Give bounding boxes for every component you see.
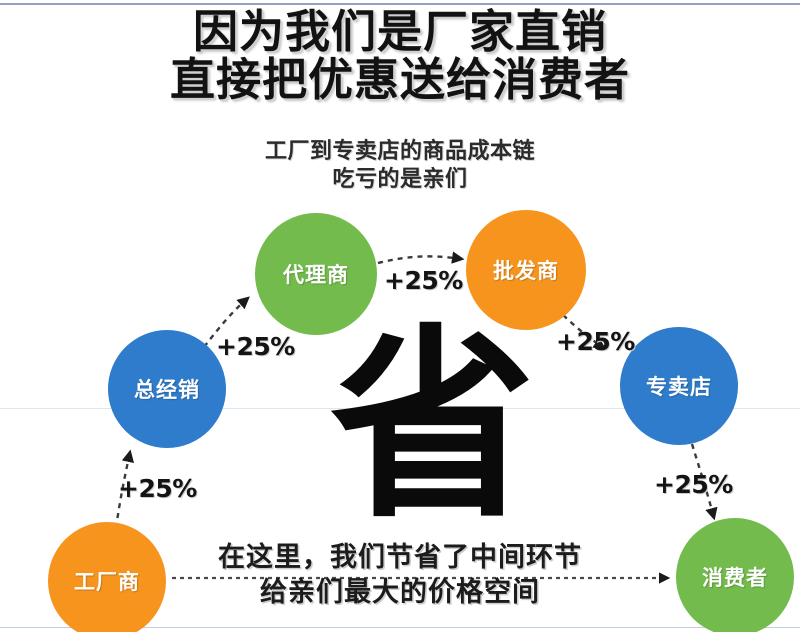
arrow-agent-to-wholesaler (378, 256, 462, 263)
node-wholesaler[interactable]: 批发商 (466, 210, 586, 330)
node-agent[interactable]: 代理商 (255, 213, 377, 335)
markup-distributor-agent: +25% (216, 332, 295, 361)
markup-retail-consumer: +25% (654, 470, 733, 499)
node-distributor[interactable]: 总经销 (108, 330, 226, 448)
footer-message-line-1: 在这里，我们节省了中间环节 (0, 540, 800, 575)
node-distributor-label: 总经销 (134, 374, 200, 404)
markup-wholesaler-retail: +25% (556, 327, 635, 356)
node-retail-store[interactable]: 专卖店 (620, 327, 738, 445)
footer-message: 在这里，我们节省了中间环节 给亲们最大的价格空间 (0, 540, 800, 610)
node-agent-label: 代理商 (283, 259, 349, 289)
node-wholesaler-label: 批发商 (493, 255, 559, 285)
footer-message-line-2: 给亲们最大的价格空间 (0, 575, 800, 610)
node-retail-store-label: 专卖店 (646, 371, 712, 401)
markup-factory-distributor: +25% (118, 474, 197, 503)
poster-canvas: 因为我们是厂家直销 直接把优惠送给消费者 工厂到专卖店的商品成本链 吃亏的是亲们… (0, 0, 800, 632)
markup-agent-wholesaler: +25% (384, 266, 463, 295)
